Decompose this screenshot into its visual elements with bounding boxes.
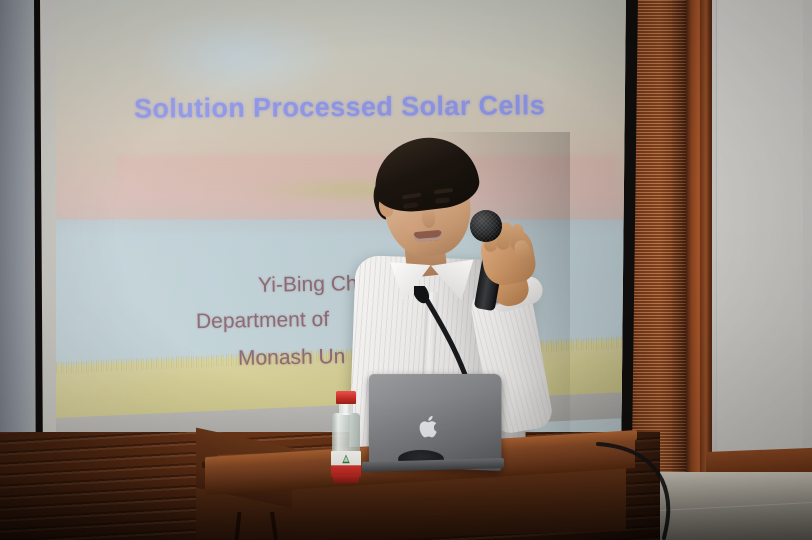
bottle-neck [339,403,353,415]
pine-tree-icon [341,454,351,465]
right-wall-panel [716,0,803,455]
slide-subtitle-department: Department of [196,308,329,334]
slide-title: Solution Processed Solar Cells [134,90,545,125]
water-bottle [330,391,362,485]
microphone-mesh-texture [470,210,502,242]
wood-trim-column-inner [700,0,710,498]
bottle-label-base [333,475,359,483]
power-cable [596,440,796,540]
presentation-photo: Solution Processed Solar Cells Yi-Bing C… [0,0,812,540]
bottle-cap [336,391,356,404]
apple-logo-icon [419,414,441,440]
